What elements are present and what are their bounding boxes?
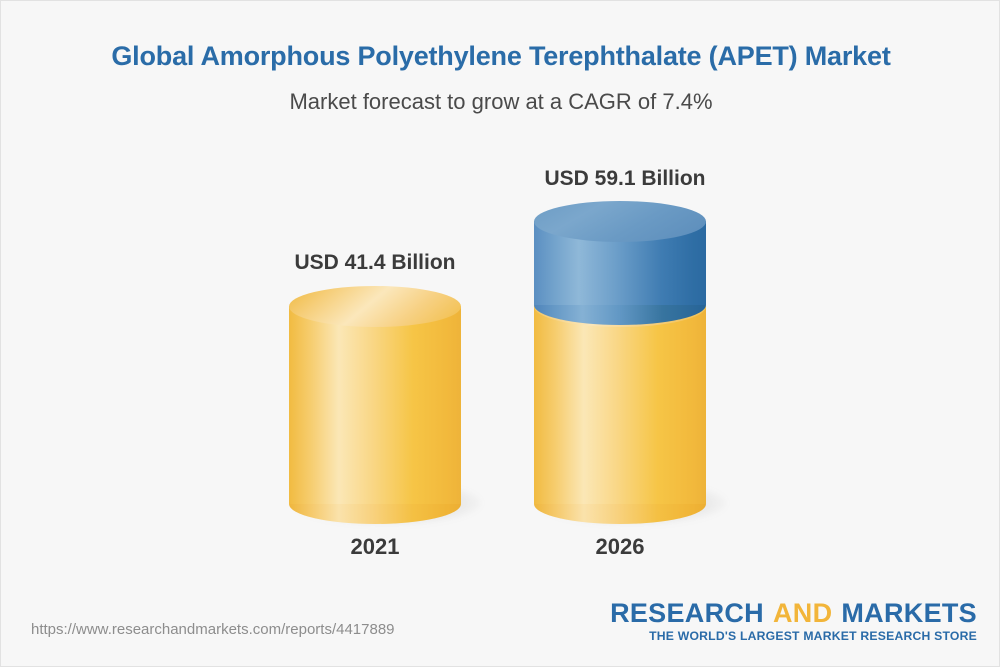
page-title: Global Amorphous Polyethylene Terephthal… bbox=[1, 41, 1000, 72]
brand-tagline: THE WORLD'S LARGEST MARKET RESEARCH STOR… bbox=[610, 629, 977, 643]
value-label-2021: USD 41.4 Billion bbox=[225, 251, 525, 275]
source-url[interactable]: https://www.researchandmarkets.com/repor… bbox=[31, 621, 395, 638]
cylinder-2021-body bbox=[289, 306, 461, 504]
brand-logo[interactable]: RESEARCHANDMARKETS THE WORLD'S LARGEST M… bbox=[610, 599, 977, 643]
year-label-2026: 2026 bbox=[470, 534, 770, 560]
brand-word-and: AND bbox=[773, 598, 832, 628]
brand-word-markets: MARKETS bbox=[841, 598, 977, 628]
cylinder-2026-blue-top-ellipse bbox=[534, 201, 706, 242]
infographic-card: Global Amorphous Polyethylene Terephthal… bbox=[0, 0, 1000, 667]
brand-word-research: RESEARCH bbox=[610, 598, 764, 628]
cylinder-2021-top-ellipse bbox=[289, 286, 461, 327]
chart-subtitle: Market forecast to grow at a CAGR of 7.4… bbox=[1, 89, 1000, 115]
cylinder-2026-yellow-body bbox=[534, 306, 706, 504]
value-label-2026: USD 59.1 Billion bbox=[475, 167, 775, 191]
brand-wordmark: RESEARCHANDMARKETS bbox=[610, 599, 977, 627]
